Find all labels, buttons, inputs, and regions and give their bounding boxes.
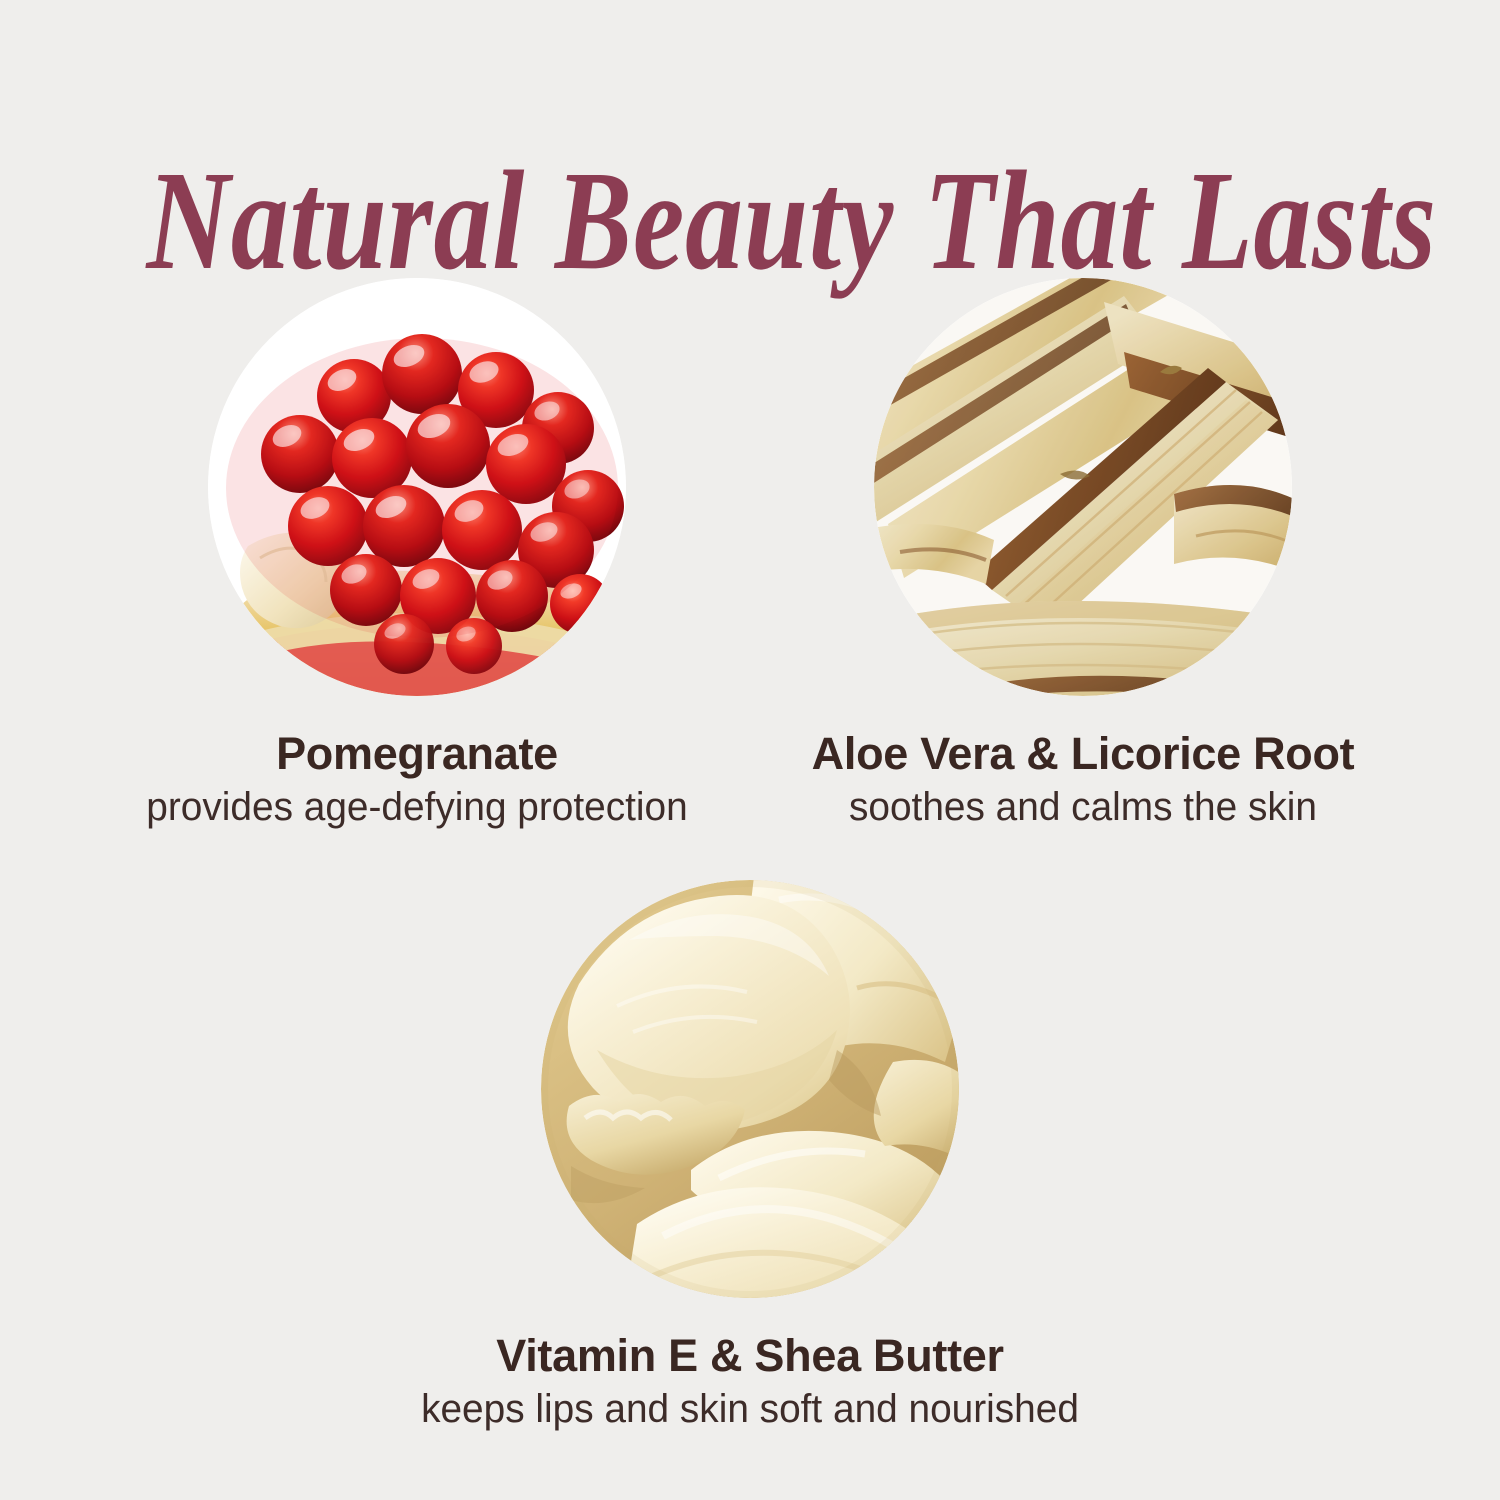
licorice-root-caption: Aloe Vera & Licorice Root soothes and ca… — [733, 730, 1433, 829]
ingredient-description: provides age-defying protection — [116, 785, 717, 830]
ingredient-card-licorice-root: Aloe Vera & Licorice Root soothes and ca… — [873, 278, 1293, 829]
ingredient-card-shea-butter: Vitamin E & Shea Butter keeps lips and s… — [540, 880, 960, 1431]
pomegranate-photo — [208, 278, 626, 696]
ingredient-description: keeps lips and skin soft and nourished — [411, 1387, 1090, 1432]
ingredient-row-top: Pomegranate provides age-defying protect… — [0, 278, 1500, 829]
licorice-root-photo — [874, 278, 1292, 696]
pomegranate-caption: Pomegranate provides age-defying protect… — [107, 730, 727, 829]
ingredient-card-pomegranate: Pomegranate provides age-defying protect… — [207, 278, 627, 829]
ingredient-title: Aloe Vera & Licorice Root — [733, 730, 1433, 778]
ingredient-description: soothes and calms the skin — [744, 785, 1423, 830]
ingredient-row-bottom: Vitamin E & Shea Butter keeps lips and s… — [0, 880, 1500, 1431]
page-title: Natural Beauty That Lasts — [146, 149, 1436, 291]
ingredient-title: Pomegranate — [107, 730, 727, 778]
shea-butter-caption: Vitamin E & Shea Butter keeps lips and s… — [400, 1332, 1100, 1431]
shea-butter-photo — [541, 880, 959, 1298]
ingredient-title: Vitamin E & Shea Butter — [400, 1332, 1100, 1380]
